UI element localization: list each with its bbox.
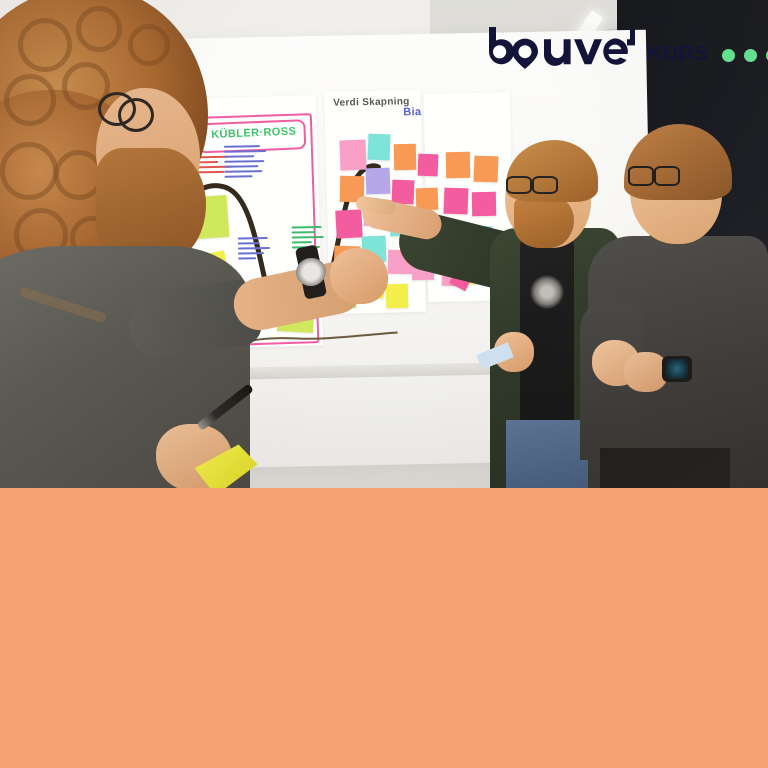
photo-scene: NER KÜBLER·ROSS KONFLIKT TILLIT STABIL V… <box>0 0 768 490</box>
whiteboard-label-bia: Bia <box>403 106 421 118</box>
person-right-smartwatch <box>662 356 692 382</box>
person-right-glasses <box>654 166 680 186</box>
person-middle-glasses <box>506 176 532 194</box>
sticky-note <box>335 209 362 238</box>
brand-dot <box>744 49 757 62</box>
bouvet-wordmark <box>487 25 635 76</box>
promo-poster: NER KÜBLER·ROSS KONFLIKT TILLIT STABIL V… <box>0 0 768 768</box>
person-middle-glasses <box>532 176 558 194</box>
sticky-note <box>446 152 470 178</box>
orange-panel: Felles kompetanseheving – økt verdiskapi… <box>0 488 768 768</box>
person-right-trousers <box>600 448 730 490</box>
sticky-note <box>418 154 439 177</box>
kurs-label: KURS <box>647 42 709 66</box>
sticky-note <box>339 140 366 171</box>
sticky-note <box>368 134 391 161</box>
whiteboard-scribble <box>224 145 269 181</box>
sticky-note <box>392 180 415 205</box>
sticky-note <box>394 144 416 170</box>
sticky-note <box>386 284 409 309</box>
whiteboard-scribble <box>238 237 272 263</box>
bouvet-logo[interactable]: KURS <box>487 28 768 72</box>
sticky-note <box>474 156 499 183</box>
sticky-note <box>444 188 469 215</box>
person-right-glasses <box>628 166 654 186</box>
sticky-note <box>366 168 391 195</box>
person-middle-beard <box>514 196 574 248</box>
person-left-glasses <box>118 98 154 132</box>
bouvet-logotype-icon <box>487 25 635 69</box>
brand-dot <box>722 49 735 62</box>
whiteboard-label-verdiskapning: Verdi Skapning <box>333 96 410 108</box>
person-middle-tshirt-print <box>528 274 566 310</box>
person-left-hand <box>330 248 388 304</box>
person-middle-tshirt <box>520 232 574 422</box>
brand-dots <box>722 49 768 62</box>
sticky-note <box>472 192 496 216</box>
